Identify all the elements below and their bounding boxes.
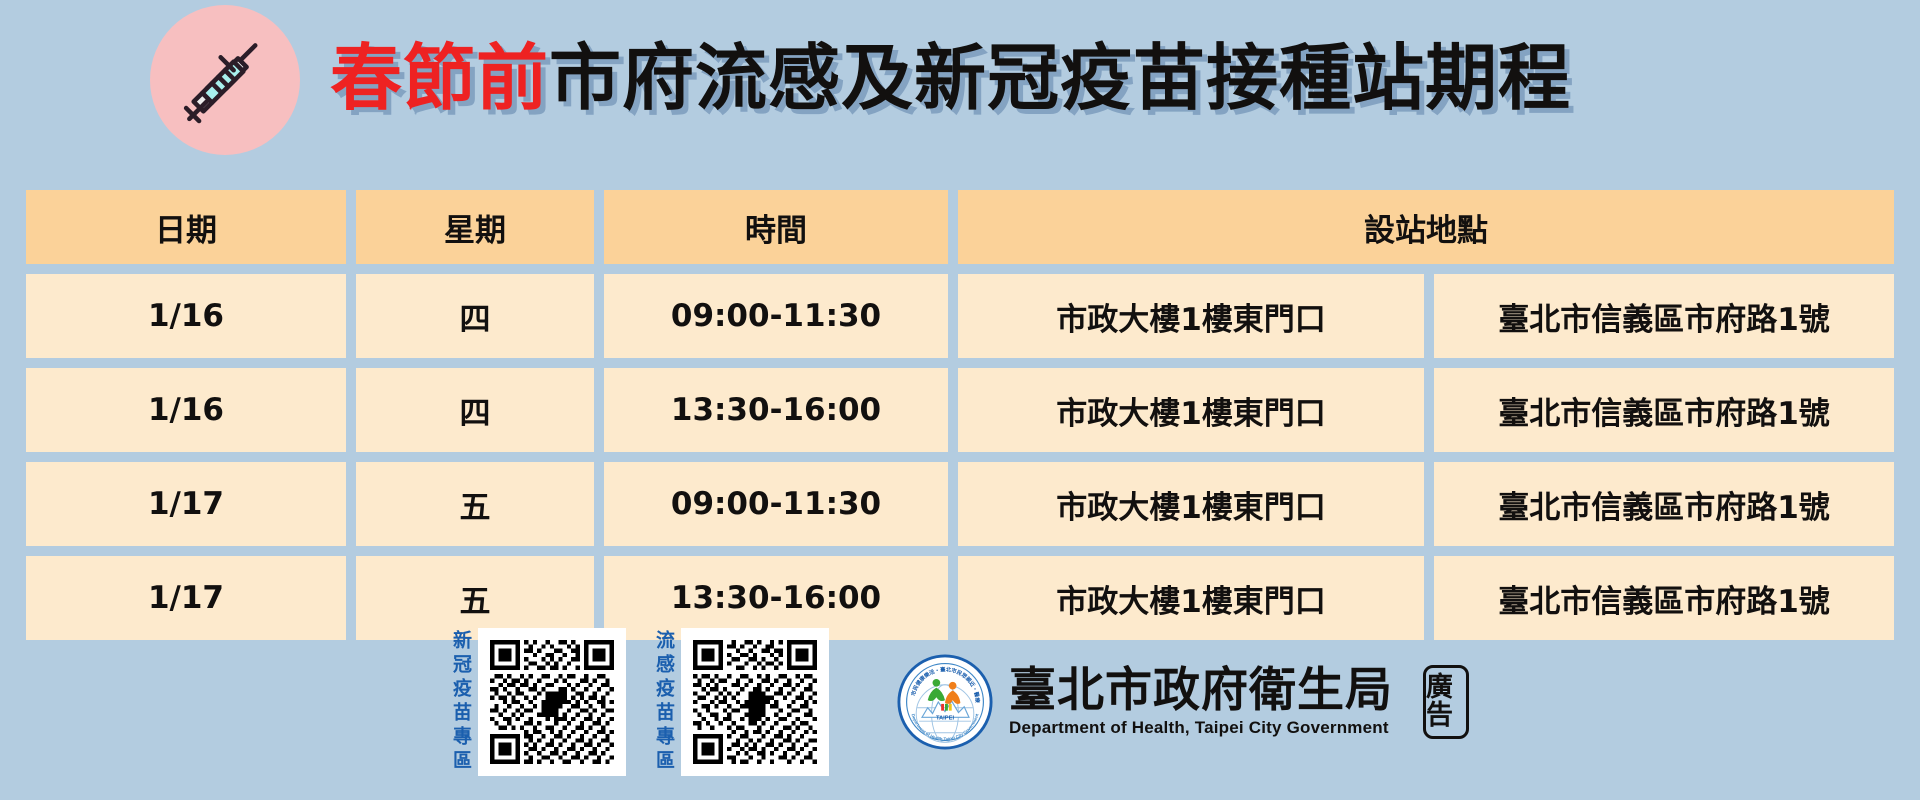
qr-code-flu[interactable] (681, 628, 829, 776)
qr-code-flu-image (693, 640, 817, 764)
cell-day: 五 (356, 462, 594, 546)
column-header-date: 日期 (26, 190, 346, 264)
cell-address: 臺北市信義區市府路1號 (1434, 368, 1894, 452)
cell-address: 臺北市信義區市府路1號 (1434, 462, 1894, 546)
page-header: 春節前市府流感及新冠疫苗接種站期程 (0, 0, 1920, 155)
table-row: 1/17 五 09:00-11:30 市政大樓1樓東門口 臺北市信義區市府路1號 (26, 462, 1894, 546)
cell-time: 09:00-11:30 (604, 274, 948, 358)
column-header-time: 時間 (604, 190, 948, 264)
syringe-icon-circle (150, 5, 300, 155)
schedule-table: 日期 星期 時間 設站地點 1/16 四 09:00-11:30 市政大樓1樓東… (26, 190, 1894, 650)
advertisement-badge: 廣告 (1423, 665, 1469, 739)
organization-name-cn: 臺北市政府衛生局 (1009, 666, 1393, 715)
column-header-day: 星期 (356, 190, 594, 264)
qr-label-covid: 新冠疫苗專區 (451, 630, 470, 774)
cell-time: 09:00-11:30 (604, 462, 948, 546)
qr-block-flu: 流感疫苗專區 (654, 628, 829, 776)
cell-place: 市政大樓1樓東門口 (958, 462, 1424, 546)
organization-name-wrap: 臺北市政府衛生局 Department of Health, Taipei Ci… (1009, 666, 1393, 738)
svg-text:TAIPEI: TAIPEI (936, 715, 955, 721)
qr-label-flu: 流感疫苗專區 (654, 630, 673, 774)
table-row: 1/16 四 13:30-16:00 市政大樓1樓東門口 臺北市信義區市府路1號 (26, 368, 1894, 452)
page-footer: 新冠疫苗專區 (0, 612, 1920, 792)
syringe-icon (171, 26, 279, 134)
qr-code-covid[interactable] (478, 628, 626, 776)
cell-day: 四 (356, 274, 594, 358)
cell-date: 1/16 (26, 274, 346, 358)
cell-time: 13:30-16:00 (604, 368, 948, 452)
cell-date: 1/16 (26, 368, 346, 452)
qr-block-covid: 新冠疫苗專區 (451, 628, 626, 776)
cell-place: 市政大樓1樓東門口 (958, 368, 1424, 452)
page-title-main: 市府流感及新冠疫苗接種站期程 (549, 36, 1571, 120)
taipei-city-seal-icon: TAIPEI 市民健康樂活・臺北市民眾親近・醫療照護中心 Department … (897, 654, 993, 750)
page-title: 春節前市府流感及新冠疫苗接種站期程 (330, 42, 1571, 114)
column-header-location: 設站地點 (958, 190, 1894, 264)
cell-place: 市政大樓1樓東門口 (958, 274, 1424, 358)
organization-name-en: Department of Health, Taipei City Govern… (1009, 718, 1393, 738)
organization-logo-block: TAIPEI 市民健康樂活・臺北市民眾親近・醫療照護中心 Department … (897, 654, 1469, 750)
cell-address: 臺北市信義區市府路1號 (1434, 274, 1894, 358)
cell-date: 1/17 (26, 462, 346, 546)
table-row: 1/16 四 09:00-11:30 市政大樓1樓東門口 臺北市信義區市府路1號 (26, 274, 1894, 358)
table-header-row: 日期 星期 時間 設站地點 (26, 190, 1894, 264)
qr-code-covid-image (490, 640, 614, 764)
page-title-highlight: 春節前 (330, 36, 549, 120)
cell-day: 四 (356, 368, 594, 452)
